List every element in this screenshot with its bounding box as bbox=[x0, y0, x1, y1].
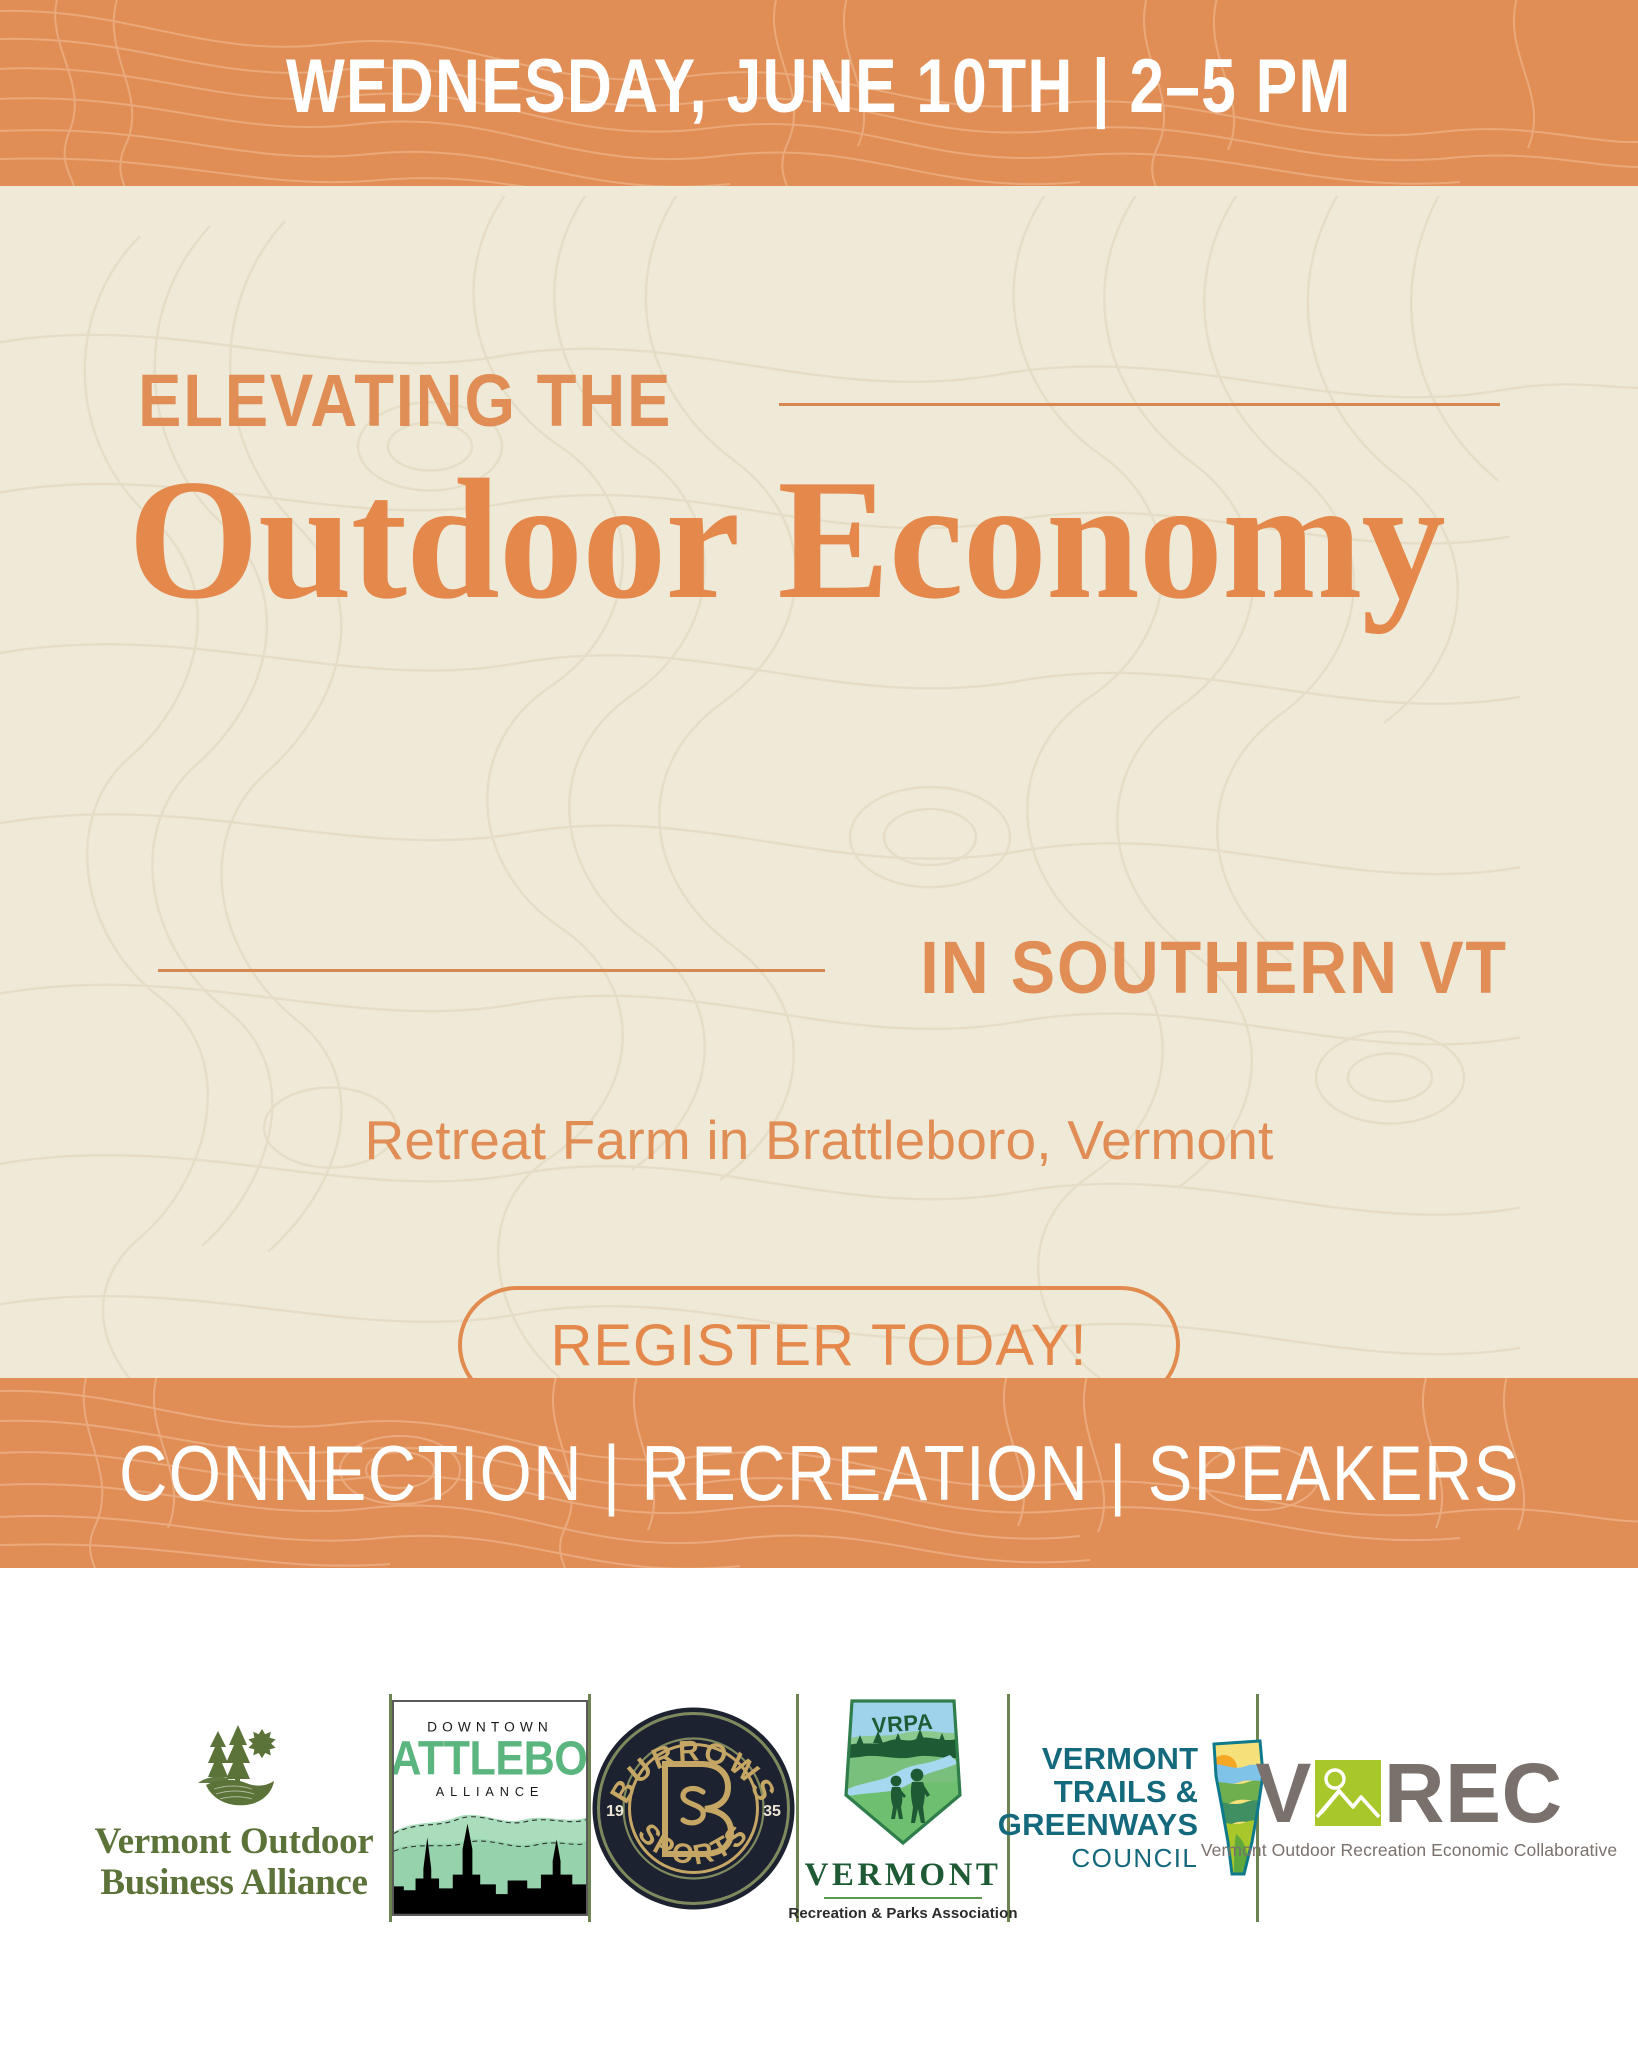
event-poster: WEDNESDAY, JUNE 10TH | 2–5 PM bbox=[0, 0, 1638, 2048]
venue-location: Retreat Farm in Brattleboro, Vermont bbox=[0, 1108, 1638, 1172]
register-today-button[interactable]: REGISTER TODAY! bbox=[458, 1286, 1180, 1378]
town-skyline-hills-icon: DOWNTOWN BRATTLEBORO ALLIANCE bbox=[394, 1702, 586, 1914]
vtgc-line-1: VERMONT bbox=[998, 1743, 1199, 1776]
cta-wrapper: REGISTER TODAY! bbox=[0, 1286, 1638, 1378]
svg-text:19: 19 bbox=[606, 1803, 624, 1820]
vrpa-underline bbox=[824, 1897, 982, 1899]
page-title: Outdoor Economy bbox=[128, 454, 1490, 626]
sponsor-logo-downtown-brattleboro-alliance[interactable]: DOWNTOWN BRATTLEBORO ALLIANCE bbox=[392, 1568, 588, 2048]
vtgc-wordmark: VERMONT TRAILS & GREENWAYS COUNCIL bbox=[998, 1743, 1199, 1872]
svg-text:ALLIANCE: ALLIANCE bbox=[436, 1784, 545, 1799]
tagline-banner: CONNECTION | RECREATION | SPEAKERS bbox=[0, 1378, 1638, 1568]
banner-divider-sliver bbox=[0, 186, 1638, 196]
sponsor-logo-vrpa[interactable]: VRPA VERMONT Recreation & Parks Associat… bbox=[799, 1568, 1007, 2048]
trees-sun-leaf-icon bbox=[188, 1723, 280, 1807]
svg-text:VRPA: VRPA bbox=[871, 1708, 934, 1737]
date-banner: WEDNESDAY, JUNE 10TH | 2–5 PM bbox=[0, 0, 1638, 186]
hero-subhead: IN SOUTHERN VT bbox=[920, 931, 1508, 1005]
hero-section: ELEVATING THE Outdoor Economy IN SOUTHER… bbox=[0, 196, 1638, 1378]
vrpa-subtitle: Recreation & Parks Association bbox=[788, 1905, 1017, 1922]
sponsor-name-voba: Vermont Outdoor Business Alliance bbox=[95, 1821, 374, 1904]
subhead-row: IN SOUTHERN VT bbox=[158, 931, 1508, 1005]
eyebrow-rule bbox=[779, 403, 1500, 406]
svg-text:35: 35 bbox=[763, 1803, 781, 1820]
sponsor-logo-vermont-trails-greenways-council[interactable]: VERMONT TRAILS & GREENWAYS COUNCIL bbox=[1010, 1568, 1256, 2048]
eyebrow-row: ELEVATING THE bbox=[138, 364, 1500, 438]
voba-name-line-1: Vermont Outdoor bbox=[95, 1821, 374, 1862]
vtgc-line-3: GREENWAYS bbox=[998, 1809, 1199, 1842]
sponsor-logo-vorec[interactable]: V REC Vermont Outdoor Recreation Ec bbox=[1259, 1568, 1559, 2048]
event-date-time: WEDNESDAY, JUNE 10TH | 2–5 PM bbox=[286, 49, 1352, 125]
vorec-tagline: Vermont Outdoor Recreation Economic Coll… bbox=[1201, 1840, 1617, 1861]
headline-row: Outdoor Economy bbox=[128, 454, 1518, 626]
dba-logo-frame: DOWNTOWN BRATTLEBORO ALLIANCE bbox=[392, 1700, 588, 1916]
vtgc-line-4: COUNCIL bbox=[998, 1845, 1199, 1873]
voba-name-line-2: Business Alliance bbox=[95, 1862, 374, 1903]
sponsor-logo-burrows-sports[interactable]: BURROWS SPORTS 19 35 bbox=[591, 1568, 796, 2048]
vorec-lockup: V REC bbox=[1255, 1755, 1562, 1832]
vrpa-state-label: VERMONT bbox=[805, 1859, 1002, 1892]
sponsor-logo-voba[interactable]: Vermont Outdoor Business Alliance bbox=[79, 1568, 389, 2048]
circular-badge-icon: BURROWS SPORTS 19 35 bbox=[591, 1706, 796, 1911]
vorec-letters-rec: REC bbox=[1384, 1755, 1563, 1832]
mountain-sun-square-icon bbox=[1315, 1760, 1381, 1826]
event-tagline: CONNECTION | RECREATION | SPEAKERS bbox=[119, 1434, 1520, 1512]
shield-landscape-hikers-icon: VRPA bbox=[838, 1695, 968, 1847]
vorec-letter-v: V bbox=[1255, 1755, 1312, 1832]
svg-text:BRATTLEBORO: BRATTLEBORO bbox=[394, 1731, 586, 1785]
subhead-rule bbox=[158, 969, 825, 972]
vtgc-line-2: TRAILS & bbox=[998, 1776, 1199, 1809]
hero-eyebrow: ELEVATING THE bbox=[138, 364, 672, 438]
sponsor-logo-strip: Vermont Outdoor Business Alliance DOWNTO… bbox=[0, 1568, 1638, 2048]
